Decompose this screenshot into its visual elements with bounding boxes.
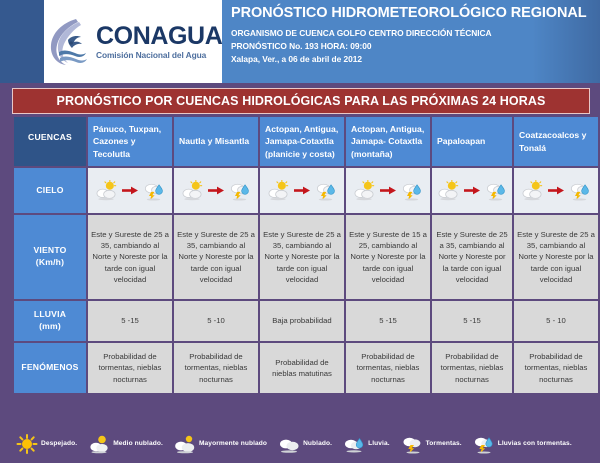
conagua-eagle-water-logo-icon [46, 16, 92, 68]
legend-item-medio-nublado: Medio nublado. [88, 434, 163, 454]
row-label-viento: VIENTO (Km/h) [14, 215, 86, 299]
cloudy-icon [278, 434, 300, 454]
lluvia-cell-2: 5 -10 [174, 301, 258, 341]
sky-sequence [514, 168, 598, 213]
column-header-2: Nautla y Misantla [174, 117, 258, 166]
row-label-lluvia: LLUVIA (mm) [14, 301, 86, 341]
legend-label: Tormentas. [426, 440, 462, 447]
legend-label: Lluvia. [368, 440, 390, 447]
corner-label: CUENCAS [14, 117, 86, 166]
sky-sequence [432, 168, 512, 213]
viento-cell-4: Este y Sureste de 15 a 25, cambiando al … [346, 215, 430, 299]
partly-cloudy-icon [267, 180, 290, 201]
page-title: PRONÓSTICO HIDROMETEOROLÓGICO REGIONAL [231, 5, 600, 21]
fenomenos-cell-4: Probabilidad de tormentas, nieblas noctu… [346, 343, 430, 393]
legend-label: Mayormente nublado [199, 440, 267, 447]
sky-sequence [346, 168, 430, 213]
logo-band: CONAGUA Comisión Nacional del Agua [0, 0, 222, 83]
forecast-board: PRONÓSTICO POR CUENCAS HIDROLÓGICAS PARA… [12, 88, 590, 395]
legend-item-despejado: Despejado. [16, 434, 77, 454]
lluvia-cell-6: 5 - 10 [514, 301, 598, 341]
viento-cell-6: Este y Sureste de 25 a 35, cambiando al … [514, 215, 598, 299]
legend-label: Nublado. [303, 440, 332, 447]
column-header-1: Pánuco, Tuxpan, Cazones y Tecolutla [88, 117, 172, 166]
sun-icon [16, 434, 38, 454]
lluvia-cell-4: 5 -15 [346, 301, 430, 341]
transition-arrow-icon [547, 185, 565, 196]
row-cielo: CIELO [14, 168, 598, 213]
column-header-4: Actopan, Antigua, Jamapa- Cotaxtla (mont… [346, 117, 430, 166]
legend-label: Despejado. [41, 440, 77, 447]
rain-thunderstorm-icon [473, 434, 495, 454]
fenomenos-cell-6: Probabilidad de tormentas, nieblas noctu… [514, 343, 598, 393]
banner-title: PRONÓSTICO POR CUENCAS HIDROLÓGICAS PARA… [12, 88, 590, 114]
legend-label: Lluvias con tormentas. [498, 440, 572, 447]
sky-sequence [88, 168, 172, 213]
transition-arrow-icon [379, 185, 397, 196]
row-fenomenos: FENÓMENOS Probabilidad de tormentas, nie… [14, 343, 598, 393]
page-header: CONAGUA Comisión Nacional del Agua PRONÓ… [0, 0, 600, 83]
rain-icon [343, 434, 365, 454]
transition-arrow-icon [121, 185, 139, 196]
logo-name: CONAGUA [96, 24, 222, 49]
partly-cloudy-icon [353, 180, 376, 201]
viento-cell-2: Este y Sureste de 25 a 35, cambiando al … [174, 215, 258, 299]
fenomenos-cell-1: Probabilidad de tormentas, nieblas noctu… [88, 343, 172, 393]
cielo-cell-4 [346, 168, 430, 213]
logo-text: CONAGUA Comisión Nacional del Agua [96, 24, 222, 59]
header-organism: ORGANISMO DE CUENCA GOLFO CENTRO DIRECCI… [231, 27, 600, 40]
legend-bar: Despejado. Medio nublado. Mayormente nub… [0, 424, 600, 463]
lluvia-cell-5: 5 -15 [432, 301, 512, 341]
partly-cloudy-icon [437, 180, 460, 201]
forecast-page: CONAGUA Comisión Nacional del Agua PRONÓ… [0, 0, 600, 463]
legend-item-nublado: Nublado. [278, 434, 332, 454]
header-place-date: Xalapa, Ver., a 06 de abril de 2012 [231, 53, 600, 66]
partly-cloudy-icon [95, 180, 118, 201]
cielo-cell-5 [432, 168, 512, 213]
lluvia-cell-1: 5 -15 [88, 301, 172, 341]
cielo-cell-6 [514, 168, 598, 213]
fenomenos-cell-5: Probabilidad de tormentas, nieblas noctu… [432, 343, 512, 393]
row-label-lluvia-line1: LLUVIA [14, 309, 86, 321]
forecast-table: CUENCAS Pánuco, Tuxpan, Cazones y Tecolu… [12, 115, 600, 395]
partly-cloudy-icon [521, 180, 544, 201]
conagua-logo: CONAGUA Comisión Nacional del Agua [46, 16, 222, 68]
rain-thunderstorm-icon [314, 180, 337, 201]
cielo-cell-1 [88, 168, 172, 213]
sky-sequence [260, 168, 344, 213]
column-header-5: Papaloapan [432, 117, 512, 166]
header-left-accent [0, 0, 44, 83]
viento-cell-1: Este y Sureste de 25 a 35, cambiando al … [88, 215, 172, 299]
row-label-fenomenos: FENÓMENOS [14, 343, 86, 393]
cielo-cell-3 [260, 168, 344, 213]
legend-item-lluvia: Lluvia. [343, 434, 390, 454]
transition-arrow-icon [207, 185, 225, 196]
table-header-row: CUENCAS Pánuco, Tuxpan, Cazones y Tecolu… [14, 117, 598, 166]
row-label-viento-line2: (Km/h) [14, 257, 86, 269]
rain-thunderstorm-icon [400, 180, 423, 201]
viento-cell-5: Este y Sureste de 25 a 35, cambiando al … [432, 215, 512, 299]
fenomenos-cell-2: Probabilidad de tormentas, nieblas noctu… [174, 343, 258, 393]
legend-label: Medio nublado. [113, 440, 163, 447]
partly-cloudy-icon [181, 180, 204, 201]
row-viento: VIENTO (Km/h) Este y Sureste de 25 a 35,… [14, 215, 598, 299]
row-lluvia: LLUVIA (mm) 5 -15 5 -10 Baja probabilida… [14, 301, 598, 341]
fenomenos-cell-3: Probabilidad de nieblas matutinas [260, 343, 344, 393]
legend-item-tormentas: Tormentas. [401, 434, 462, 454]
row-label-lluvia-line2: (mm) [14, 321, 86, 333]
viento-cell-3: Este y Sureste de 25 a 35, cambiando al … [260, 215, 344, 299]
thunderstorm-icon [401, 434, 423, 454]
rain-thunderstorm-icon [228, 180, 251, 201]
cielo-cell-2 [174, 168, 258, 213]
mostly-cloudy-icon [174, 434, 196, 454]
transition-arrow-icon [293, 185, 311, 196]
legend-item-mayormente-nublado: Mayormente nublado [174, 434, 267, 454]
column-header-6: Coatzacoalcos y Tonalá [514, 117, 598, 166]
row-label-cielo: CIELO [14, 168, 86, 213]
column-header-3: Actopan, Antigua, Jamapa-Cotaxtla (plani… [260, 117, 344, 166]
rain-thunderstorm-icon [142, 180, 165, 201]
partly-cloudy-icon [88, 434, 110, 454]
sky-sequence [174, 168, 258, 213]
lluvia-cell-3: Baja probabilidad [260, 301, 344, 341]
transition-arrow-icon [463, 185, 481, 196]
header-info: PRONÓSTICO HIDROMETEOROLÓGICO REGIONAL O… [222, 0, 600, 83]
logo-subtitle: Comisión Nacional del Agua [96, 51, 222, 59]
rain-thunderstorm-icon [568, 180, 591, 201]
row-label-viento-line1: VIENTO [14, 245, 86, 257]
legend-item-lluvias-con-tormentas: Lluvias con tormentas. [473, 434, 572, 454]
header-forecast-number: PRONÓSTICO No. 193 HORA: 09:00 [231, 40, 600, 53]
rain-thunderstorm-icon [484, 180, 507, 201]
